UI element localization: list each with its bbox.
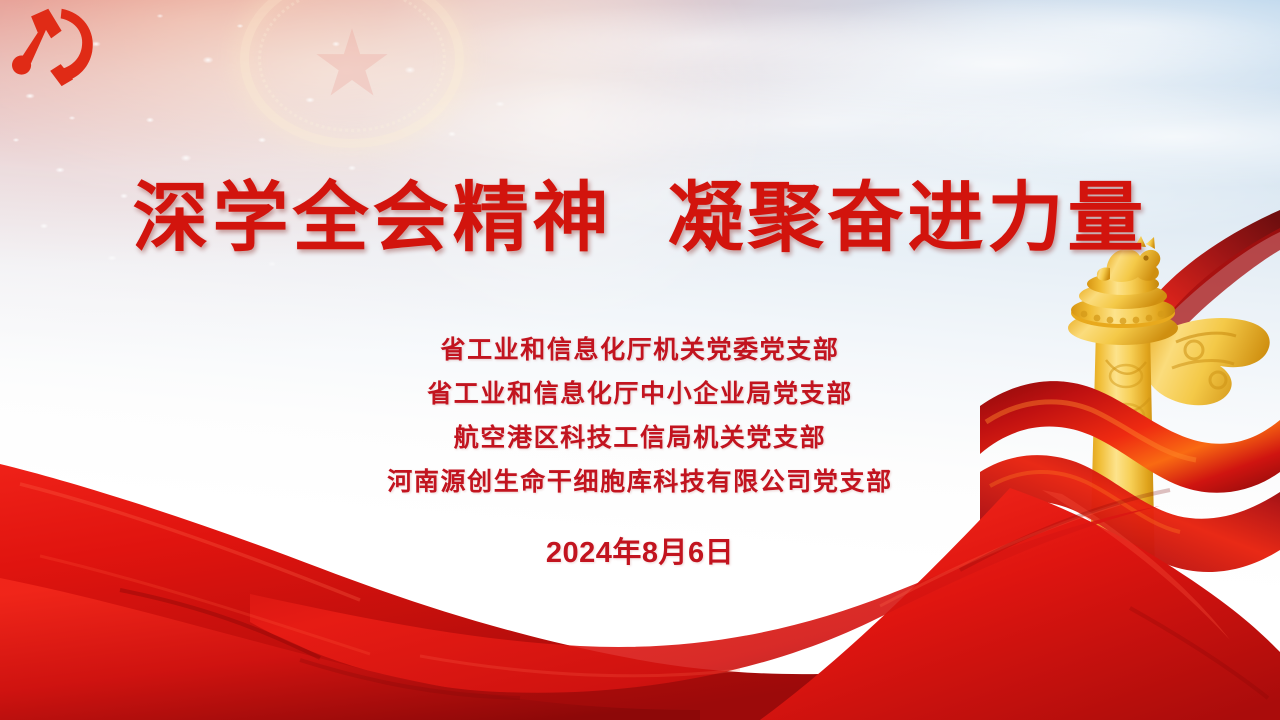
main-title: 深学全会精神 凝聚奋进力量 — [0, 181, 1280, 257]
organization-line: 河南源创生命干细胞库科技有限公司党支部 — [0, 460, 1280, 504]
poster-canvas: 深学全会精神 凝聚奋进力量 省工业和信息化厅机关党委党支部 省工业和信息化厅中小… — [0, 0, 1280, 720]
title-right-half: 凝聚奋进力量 — [667, 181, 1147, 257]
title-left-half: 深学全会精神 — [133, 181, 613, 257]
event-date: 2024年8月6日 — [0, 529, 1280, 571]
organization-list: 省工业和信息化厅机关党委党支部 省工业和信息化厅中小企业局党支部 航空港区科技工… — [0, 328, 1280, 504]
poster-text-content: 深学全会精神 凝聚奋进力量 省工业和信息化厅机关党委党支部 省工业和信息化厅中小… — [0, 0, 1280, 720]
organization-line: 省工业和信息化厅中小企业局党支部 — [0, 372, 1280, 416]
organization-line: 航空港区科技工信局机关党支部 — [0, 416, 1280, 460]
organization-line: 省工业和信息化厅机关党委党支部 — [0, 328, 1280, 372]
